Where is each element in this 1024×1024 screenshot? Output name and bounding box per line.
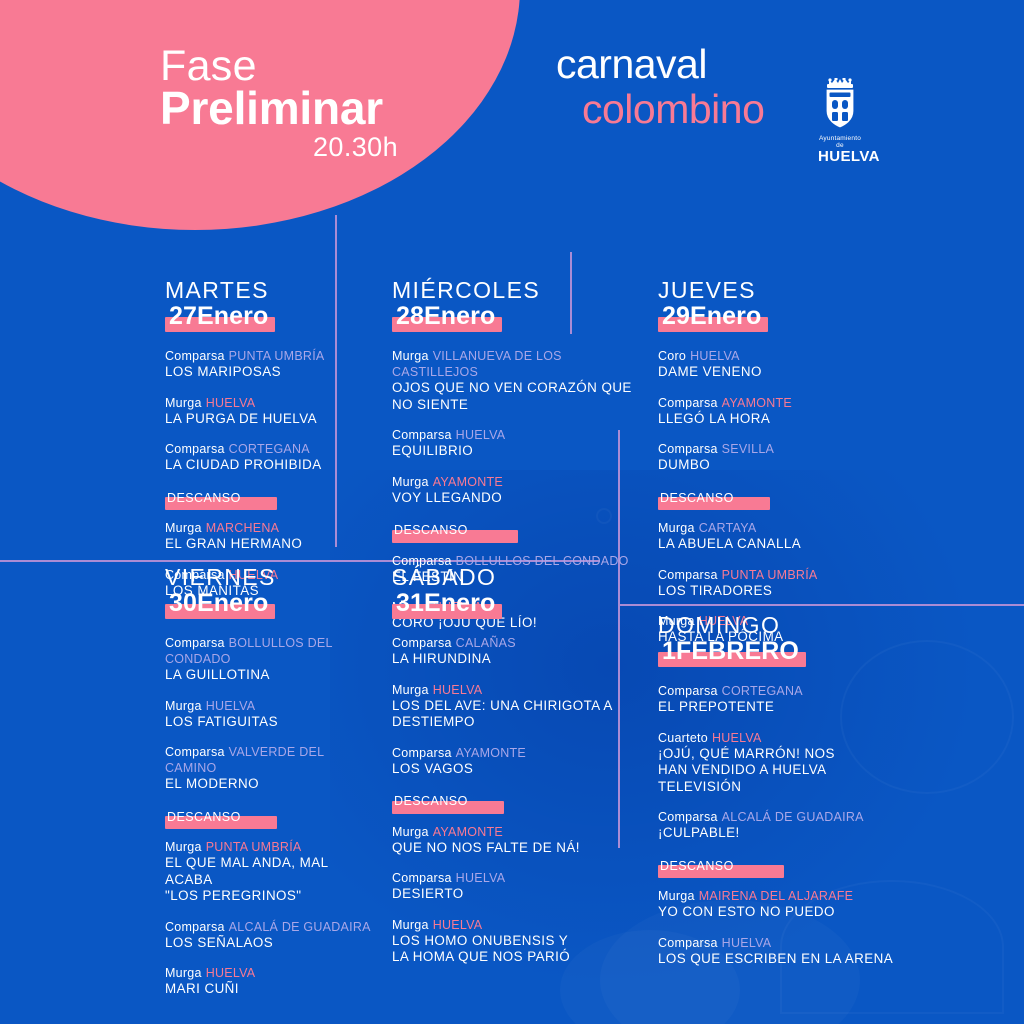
performance-entry: MurgaHUELVAMARI CUÑI [165,965,375,997]
day-name: SÁBADO [392,565,642,589]
intermission-label: DESCANSO [658,858,740,874]
entry-title: YO CON ESTO NO PUEDO [658,904,908,920]
logo-word-colombino: colombino [582,89,764,130]
performance-entry: MurgaAYAMONTEQUE NO NOS FALTE DE NÁ! [392,824,642,856]
entry-category: MurgaHUELVA [165,698,375,714]
entry-city: CORTEGANA [722,684,803,698]
entry-title: LA ABUELA CANALLA [658,536,908,552]
entry-city: ALCALÁ DE GUADAIRA [229,920,371,934]
intermission-label: DESCANSO [165,490,247,506]
intermission-highlight-bar [165,497,277,510]
day-name: DOMINGO [658,613,908,637]
entry-title: LA PURGA DE HUELVA [165,411,370,427]
entry-title: OJOS QUE NO VEN CORAZÓN QUE NO SIENTE [392,380,642,413]
day-column-domingo: DOMINGO1FEBREROComparsaCORTEGANAEL PREPO… [658,613,908,981]
date-highlight-bar [165,604,275,619]
entry-city: AYAMONTE [456,746,526,760]
date-highlight-bar [658,652,806,667]
intermission-label: DESCANSO [392,522,474,538]
entry-title: LA CIUDAD PROHIBIDA [165,457,370,473]
entry-category: ComparsaAYAMONTE [392,745,642,761]
entry-title: EL QUE MAL ANDA, MAL ACABA "LOS PEREGRIN… [165,855,375,904]
entry-city: HUELVA [722,936,772,950]
entry-category: MurgaVILLANUEVA DE LOS CASTILLEJOS [392,348,642,380]
performance-entry: ComparsaPUNTA UMBRÍALOS TIRADORES [658,567,908,599]
entry-title: VOY LLEGANDO [392,490,642,506]
entry-category: CoroHUELVA [658,348,908,364]
entry-city: ALCALÁ DE GUADAIRA [722,810,864,824]
entry-category: ComparsaBOLLULLOS DEL CONDADO [165,635,375,667]
entry-city: HUELVA [433,683,483,697]
entry-city: HUELVA [433,918,483,932]
performance-entry: MurgaHUELVALOS DEL AVE: UNA CHIRIGOTA A … [392,682,642,731]
entry-city: HUELVA [456,871,506,885]
title-line-preliminar: Preliminar [160,85,490,132]
intermission-highlight-bar [392,530,518,543]
entry-city: BOLLULLOS DEL CONDADO [165,636,332,666]
performance-list: ComparsaCORTEGANAEL PREPOTENTECuartetoHU… [658,683,908,967]
entry-city: VALVERDE DEL CAMINO [165,745,324,775]
performance-entry: MurgaHUELVALOS FATIGUITAS [165,698,375,730]
day-date-badge: 30Enero [165,590,275,616]
entry-category: MurgaAYAMONTE [392,824,642,840]
performance-list: ComparsaBOLLULLOS DEL CONDADOLA GUILLOTI… [165,635,375,997]
entry-title: EQUILIBRIO [392,443,642,459]
entry-category: MurgaCARTAYA [658,520,908,536]
performance-entry: ComparsaALCALÁ DE GUADAIRALOS SEÑALAOS [165,919,375,951]
entry-category: ComparsaPUNTA UMBRÍA [658,567,908,583]
entry-city: SEVILLA [722,442,774,456]
entry-city: HUELVA [206,396,256,410]
performance-entry: ComparsaBOLLULLOS DEL CONDADOLA GUILLOTI… [165,635,375,683]
entry-category: ComparsaSEVILLA [658,441,908,457]
entry-category: MurgaMAIRENA DEL ALJARAFE [658,888,908,904]
entry-city: CARTAYA [699,521,757,535]
performance-entry: ComparsaAYAMONTELLEGÓ LA HORA [658,395,908,427]
intermission-highlight-bar [392,801,504,814]
performance-entry: MurgaPUNTA UMBRÍAEL QUE MAL ANDA, MAL AC… [165,839,375,904]
date-highlight-bar [392,604,502,619]
entry-title: MARI CUÑI [165,981,375,997]
entry-category: ComparsaCALAÑAS [392,635,642,651]
entry-title: EL PREPOTENTE [658,699,908,715]
performance-entry: CoroHUELVADAME VENENO [658,348,908,380]
entry-city: AYAMONTE [722,396,792,410]
entry-city: HUELVA [206,966,256,980]
entry-title: LA GUILLOTINA [165,667,375,683]
performance-entry: MurgaMARCHENAEL GRAN HERMANO [165,520,370,552]
entry-title: LOS HOMO ONUBENSIS Y LA HOMA QUE NOS PAR… [392,933,642,966]
intermission-label: DESCANSO [165,809,247,825]
day-date-badge: 31Enero [392,590,502,616]
intermission-label: DESCANSO [392,793,474,809]
day-date-badge: 28Enero [392,303,502,329]
entry-city: CORTEGANA [229,442,310,456]
entry-category: MurgaPUNTA UMBRÍA [165,839,375,855]
entry-city: HUELVA [456,428,506,442]
performance-entry: ComparsaALCALÁ DE GUADAIRA¡CULPABLE! [658,809,908,841]
entry-category: ComparsaCORTEGANA [658,683,908,699]
day-name: VIERNES [165,565,375,589]
entry-category: CuartetoHUELVA [658,730,908,746]
performance-entry: MurgaMAIRENA DEL ALJARAFEYO CON ESTO NO … [658,888,908,920]
crest-city-name: HUELVA [818,149,862,165]
performance-entry: MurgaCARTAYALA ABUELA CANALLA [658,520,908,552]
entry-category: MurgaHUELVA [165,965,375,981]
entry-category: MurgaMARCHENA [165,520,370,536]
day-column-martes: MARTES27EneroComparsaPUNTA UMBRÍALOS MAR… [165,278,370,613]
performance-entry: ComparsaVALVERDE DEL CAMINOEL MODERNO [165,744,375,792]
day-column-viernes: VIERNES30EneroComparsaBOLLULLOS DEL COND… [165,565,375,1012]
entry-category: ComparsaCORTEGANA [165,441,370,457]
entry-category: ComparsaAYAMONTE [658,395,908,411]
day-date-badge: 29Enero [658,303,768,329]
entry-title: LOS TIRADORES [658,583,908,599]
day-name: MIÉRCOLES [392,278,642,302]
day-column-sabado: SÁBADO31EneroComparsaCALAÑASLA HIRUNDINA… [392,565,642,980]
entry-title: EL MODERNO [165,776,375,792]
entry-category: MurgaHUELVA [392,682,642,698]
entry-title: DAME VENENO [658,364,908,380]
date-highlight-bar [392,317,502,332]
performance-entry: ComparsaHUELVAEQUILIBRIO [392,427,642,459]
intermission-highlight-bar [165,816,277,829]
intermission-label: DESCANSO [658,490,740,506]
entry-city: MARCHENA [206,521,280,535]
title-line-fase: Fase [160,45,490,87]
day-name: MARTES [165,278,370,302]
entry-title: EL GRAN HERMANO [165,536,370,552]
entry-category: ComparsaHUELVA [392,870,642,886]
entry-title: LOS DEL AVE: UNA CHIRIGOTA A DESTIEMPO [392,698,642,731]
performance-entry: ComparsaCORTEGANAEL PREPOTENTE [658,683,908,715]
entry-category: ComparsaPUNTA UMBRÍA [165,348,370,364]
entry-city: CALAÑAS [456,636,516,650]
entry-city: HUELVA [690,349,740,363]
date-highlight-bar [658,317,768,332]
performance-entry: ComparsaPUNTA UMBRÍALOS MARIPOSAS [165,348,370,380]
performance-entry: CuartetoHUELVA¡OJÚ, QUÉ MARRÓN! NOS HAN … [658,730,908,795]
entry-category: ComparsaHUELVA [658,935,908,951]
entry-title: DESIERTO [392,886,642,902]
performance-list: ComparsaCALAÑASLA HIRUNDINAMurgaHUELVALO… [392,635,642,965]
title-time: 20.30h [160,132,490,163]
entry-city: HUELVA [206,699,256,713]
day-column-jueves: JUEVES29EneroCoroHUELVADAME VENENOCompar… [658,278,908,660]
entry-city: MAIRENA DEL ALJARAFE [699,889,854,903]
carnaval-colombino-logo: carnaval colombino [556,44,764,130]
performance-entry: ComparsaSEVILLADUMBO [658,441,908,473]
performance-entry: MurgaAYAMONTEVOY LLEGANDO [392,474,642,506]
logo-word-carnaval: carnaval [556,44,764,85]
entry-title: LOS MARIPOSAS [165,364,370,380]
entry-category: MurgaHUELVA [165,395,370,411]
performance-list: ComparsaPUNTA UMBRÍALOS MARIPOSASMurgaHU… [165,348,370,599]
intermission-highlight-bar [658,865,784,878]
performance-entry: MurgaHUELVALA PURGA DE HUELVA [165,395,370,427]
entry-title: LOS SEÑALAOS [165,935,375,951]
entry-city: HUELVA [712,731,762,745]
huelva-coat-of-arms-icon: Ayuntamiento de HUELVA [818,78,862,165]
day-name: JUEVES [658,278,908,302]
entry-city: PUNTA UMBRÍA [206,840,302,854]
date-highlight-bar [165,317,275,332]
poster-root: Fase Preliminar 20.30h carnaval colombin… [0,0,1024,1024]
entry-city: PUNTA UMBRÍA [722,568,818,582]
performance-entry: ComparsaHUELVADESIERTO [392,870,642,902]
entry-city: AYAMONTE [433,475,503,489]
entry-title: DUMBO [658,457,908,473]
entry-category: ComparsaVALVERDE DEL CAMINO [165,744,375,776]
crest-subtitle: Ayuntamiento de [818,135,862,149]
performance-entry: ComparsaCALAÑASLA HIRUNDINA [392,635,642,667]
entry-category: ComparsaALCALÁ DE GUADAIRA [165,919,375,935]
entry-title: LA HIRUNDINA [392,651,642,667]
entry-category: MurgaAYAMONTE [392,474,642,490]
day-date-badge: 1FEBRERO [658,638,806,664]
entry-city: VILLANUEVA DE LOS CASTILLEJOS [392,349,562,379]
poster-title: Fase Preliminar 20.30h [160,45,490,163]
entry-title: ¡CULPABLE! [658,825,908,841]
entry-title: LOS VAGOS [392,761,642,777]
intermission-highlight-bar [658,497,770,510]
entry-title: LLEGÓ LA HORA [658,411,908,427]
entry-city: PUNTA UMBRÍA [229,349,325,363]
entry-city: AYAMONTE [433,825,503,839]
entry-title: LOS FATIGUITAS [165,714,375,730]
day-date-badge: 27Enero [165,303,275,329]
performance-entry: ComparsaHUELVALOS QUE ESCRIBEN EN LA ARE… [658,935,908,967]
performance-entry: ComparsaAYAMONTELOS VAGOS [392,745,642,777]
performance-list: CoroHUELVADAME VENENOComparsaAYAMONTELLE… [658,348,908,645]
entry-category: ComparsaHUELVA [392,427,642,443]
performance-entry: MurgaHUELVALOS HOMO ONUBENSIS Y LA HOMA … [392,917,642,966]
performance-entry: ComparsaCORTEGANALA CIUDAD PROHIBIDA [165,441,370,473]
performance-entry: MurgaVILLANUEVA DE LOS CASTILLEJOSOJOS Q… [392,348,642,413]
entry-title: QUE NO NOS FALTE DE NÁ! [392,840,642,856]
entry-category: MurgaHUELVA [392,917,642,933]
entry-category: ComparsaALCALÁ DE GUADAIRA [658,809,908,825]
entry-title: ¡OJÚ, QUÉ MARRÓN! NOS HAN VENDIDO A HUEL… [658,746,908,795]
entry-title: LOS QUE ESCRIBEN EN LA ARENA [658,951,908,967]
